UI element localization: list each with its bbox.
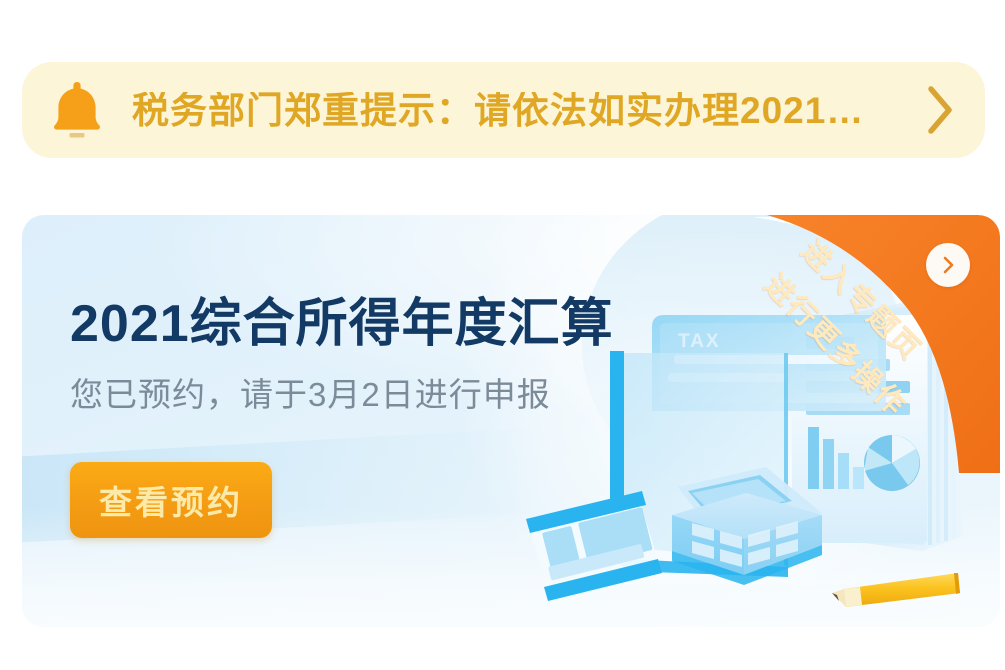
chevron-right-icon[interactable] [895, 62, 985, 158]
tax-filing-illustration: TAX [492, 215, 1000, 627]
ribbon-line-2: 进行更多操作 [756, 263, 917, 424]
bell-icon [22, 62, 132, 158]
notice-text: 税务部门郑重提示：请依法如实办理2021… [132, 92, 895, 129]
app-root: 税务部门郑重提示：请依法如实办理2021… [0, 0, 1005, 670]
ribbon-line-1: 进入专题页 [793, 229, 932, 368]
card-subtitle: 您已预约，请于3月2日进行申报 [70, 378, 551, 411]
notice-banner[interactable]: 税务部门郑重提示：请依法如实办理2021… [22, 62, 985, 158]
promo-card[interactable]: TAX [22, 215, 1000, 627]
page-title: 2021综合所得年度汇算 [70, 298, 614, 350]
view-appointment-button[interactable]: 查看预约 [70, 462, 272, 538]
svg-text:TAX: TAX [678, 331, 721, 352]
ribbon-chevron-right-icon[interactable] [926, 243, 970, 287]
